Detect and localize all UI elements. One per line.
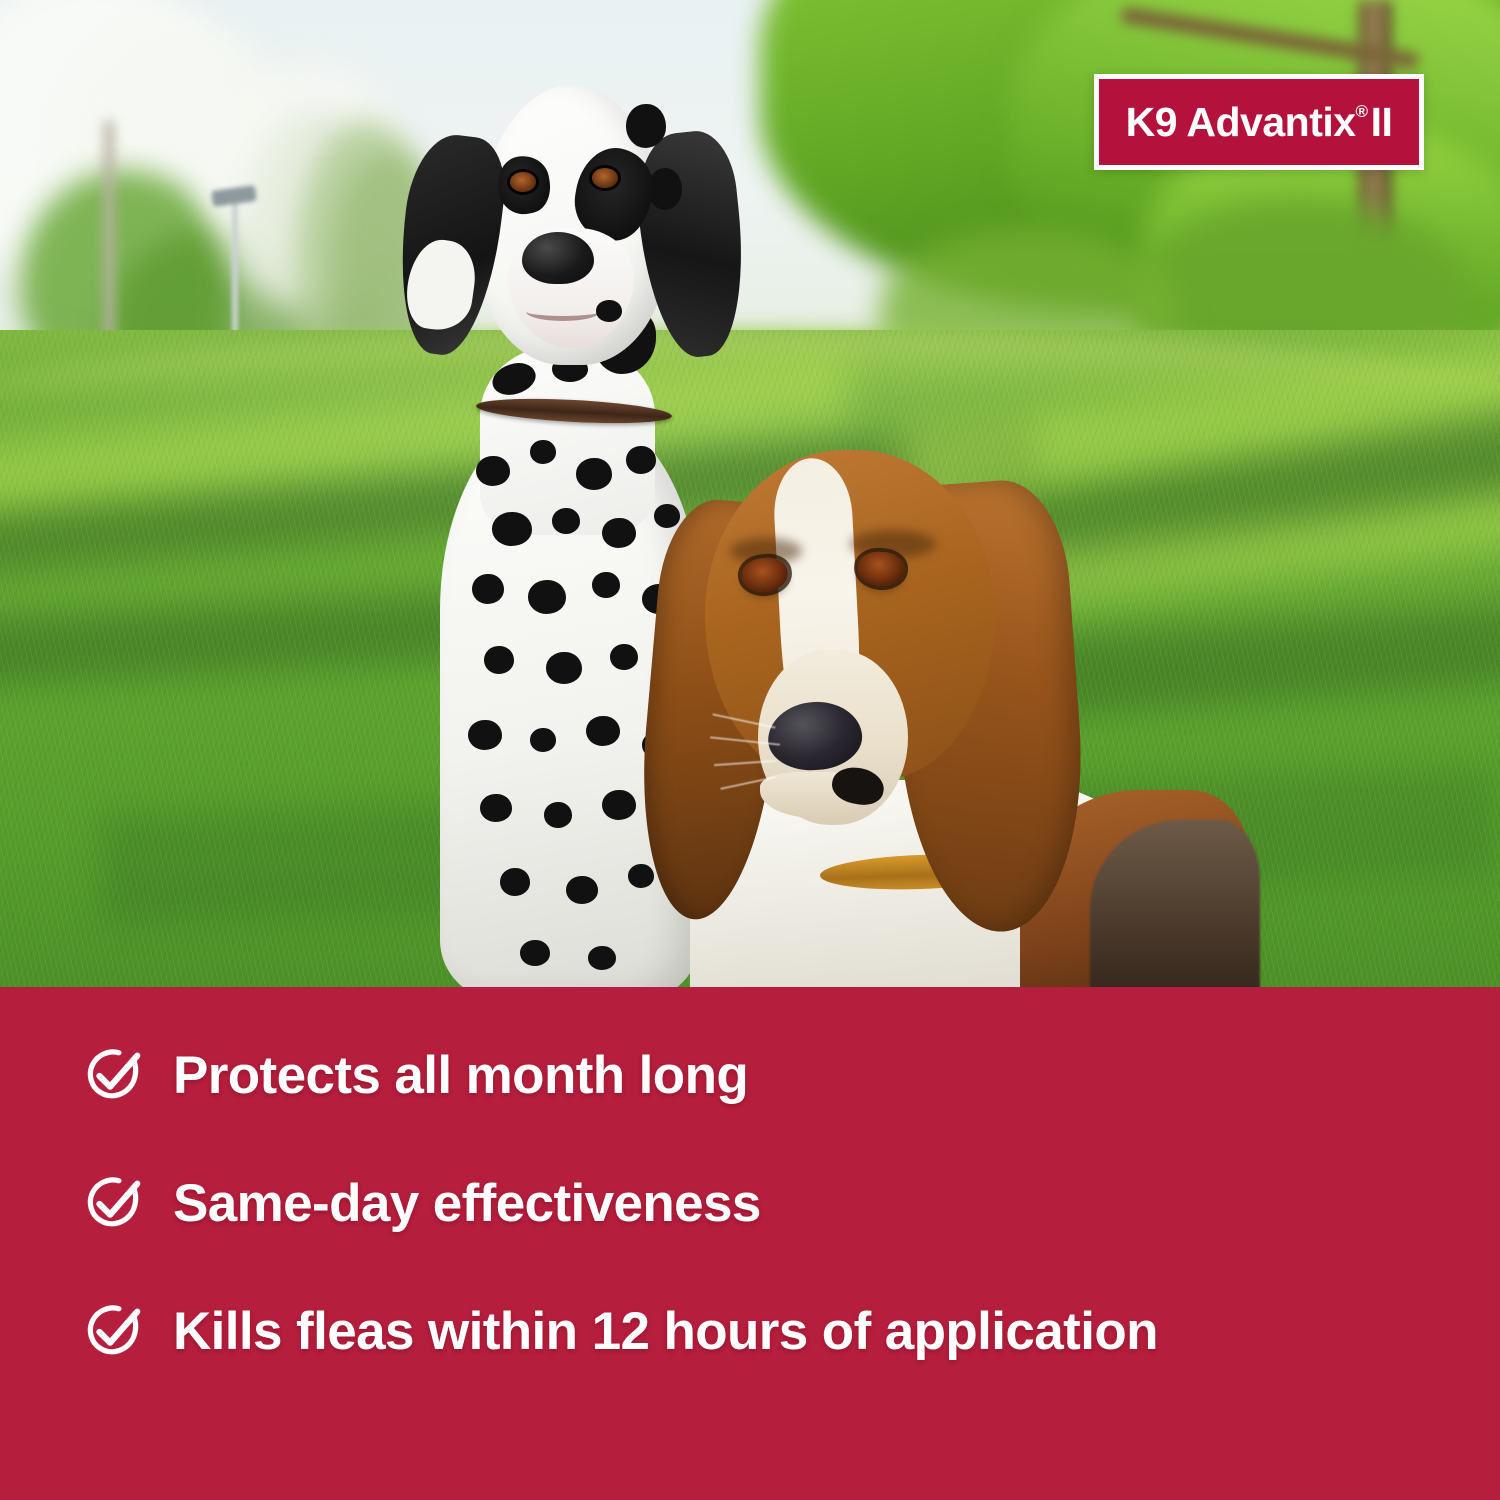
dalmatian-spot [492,512,532,546]
benefit-label: Same-day effectiveness [173,1177,761,1231]
dalmatian-spot [480,794,512,822]
brand-logo-name: K9 Advantix [1126,99,1356,145]
dalmatian-spot [500,868,530,896]
brand-logo-badge[interactable]: K9 Advantix®II [1094,74,1424,170]
dalmatian-spot [588,946,616,970]
brand-logo-suffix: II [1371,99,1393,145]
dalmatian-spot [530,440,556,464]
dalmatian-spot [544,802,572,828]
basset-hound-dog [620,420,1260,987]
dalmatian-spot [552,508,580,534]
dalmatian-spot [592,572,620,598]
hero-photo: K9 Advantix®II [0,0,1500,987]
benefits-band: Protects all month long Same-day effecti… [0,987,1500,1500]
dalmatian-spot [626,104,666,148]
dalmatian-nose [522,232,594,284]
dalmatian-spot [520,940,550,966]
benefits-list: Protects all month long Same-day effecti… [83,1043,1460,1365]
registered-trademark-icon: ® [1356,102,1368,121]
dalmatian-spot [586,716,620,746]
dalmatian-spot [484,646,514,674]
benefit-label: Protects all month long [173,1049,748,1103]
dalmatian-spot [530,728,556,752]
dalmatian-spot [566,876,598,904]
dalmatian-eye-left [510,172,536,192]
benefit-label: Kills fleas within 12 hours of applicati… [173,1305,1158,1359]
dalmatian-spot [576,458,612,490]
circle-check-icon [83,1045,145,1107]
dalmatian-eye-right [592,168,618,188]
dalmatian-spot [596,300,622,322]
circle-check-icon [83,1173,145,1235]
dalmatian-spot [528,580,566,614]
dalmatian-spot [468,720,502,750]
benefit-item-2: Same-day effectiveness [83,1171,1460,1237]
dalmatian-spot [476,456,510,486]
brand-logo-text: K9 Advantix®II [1126,102,1393,143]
dalmatian-spot [472,574,504,604]
dalmatian-spot [546,652,582,684]
product-ad-image: K9 Advantix®II Protects all month long [0,0,1500,1500]
benefit-item-3: Kills fleas within 12 hours of applicati… [83,1299,1460,1365]
dalmatian-mouth [526,302,600,321]
benefit-item-1: Protects all month long [83,1043,1460,1109]
circle-check-icon [83,1301,145,1363]
